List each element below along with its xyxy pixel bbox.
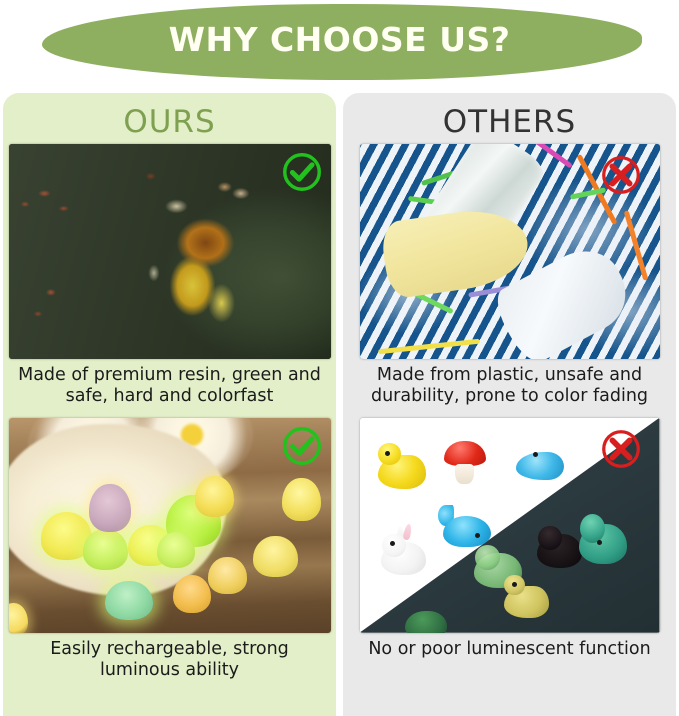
figure-green-duck (83, 529, 128, 570)
tree-resin-photo (9, 144, 331, 359)
plastic-waste-photo (360, 144, 660, 359)
others-block-luminous: No or poor luminescent function (343, 418, 676, 660)
toy-red-mushroom (444, 441, 486, 484)
others-caption-plastic: Made from plastic, unsafe and durability… (343, 359, 676, 408)
green-check-badge (279, 149, 325, 195)
red-cross-badge (598, 152, 644, 198)
toy-dim-black-dog (537, 521, 582, 568)
figure-glow-corner (9, 603, 28, 633)
ours-block-resin: Made of premium resin, green and safe, h… (3, 144, 336, 408)
page-title: WHY CHOOSE US? (0, 0, 679, 78)
glowing-figures-photo (9, 418, 331, 633)
figure-amber-duck (208, 557, 247, 594)
toy-yellow-duck (378, 443, 426, 488)
non-luminous-figures-photo (360, 418, 660, 633)
others-block-plastic: Made from plastic, unsafe and durability… (343, 144, 676, 408)
toy-white-rabbit (381, 529, 426, 574)
figure-yellow-bunny (282, 478, 321, 521)
figure-teal-crab (105, 581, 153, 620)
toy-blue-dolphin (516, 439, 564, 482)
ours-block-luminous: Easily rechargeable, strong luminous abi… (3, 418, 336, 682)
figure-orange-duck (173, 575, 212, 614)
panel-ours: OURS Made of premium resin, green and sa… (3, 93, 336, 716)
toy-dim-yellow-duck (504, 575, 549, 618)
toy-dim-green-corner (405, 600, 447, 632)
comparison-panels: OURS Made of premium resin, green and sa… (0, 88, 679, 716)
ours-caption-luminous: Easily rechargeable, strong luminous abi… (3, 633, 336, 682)
panel-others: OTHERS (343, 93, 676, 716)
header-banner: WHY CHOOSE US? (0, 0, 679, 88)
green-check-badge (279, 423, 325, 469)
toy-dim-teal-bunny (579, 508, 627, 564)
ours-caption-resin: Made of premium resin, green and safe, h… (3, 359, 336, 408)
red-cross-badge (598, 426, 644, 472)
others-caption-luminous: No or poor luminescent function (343, 633, 676, 660)
figure-yellow-dog (253, 536, 298, 577)
panel-ours-heading: OURS (3, 107, 336, 138)
figure-yellow-duck-a (195, 476, 234, 517)
figure-small-duck (157, 532, 196, 569)
panel-others-heading: OTHERS (343, 107, 676, 138)
figure-pink-bunny (89, 484, 131, 531)
